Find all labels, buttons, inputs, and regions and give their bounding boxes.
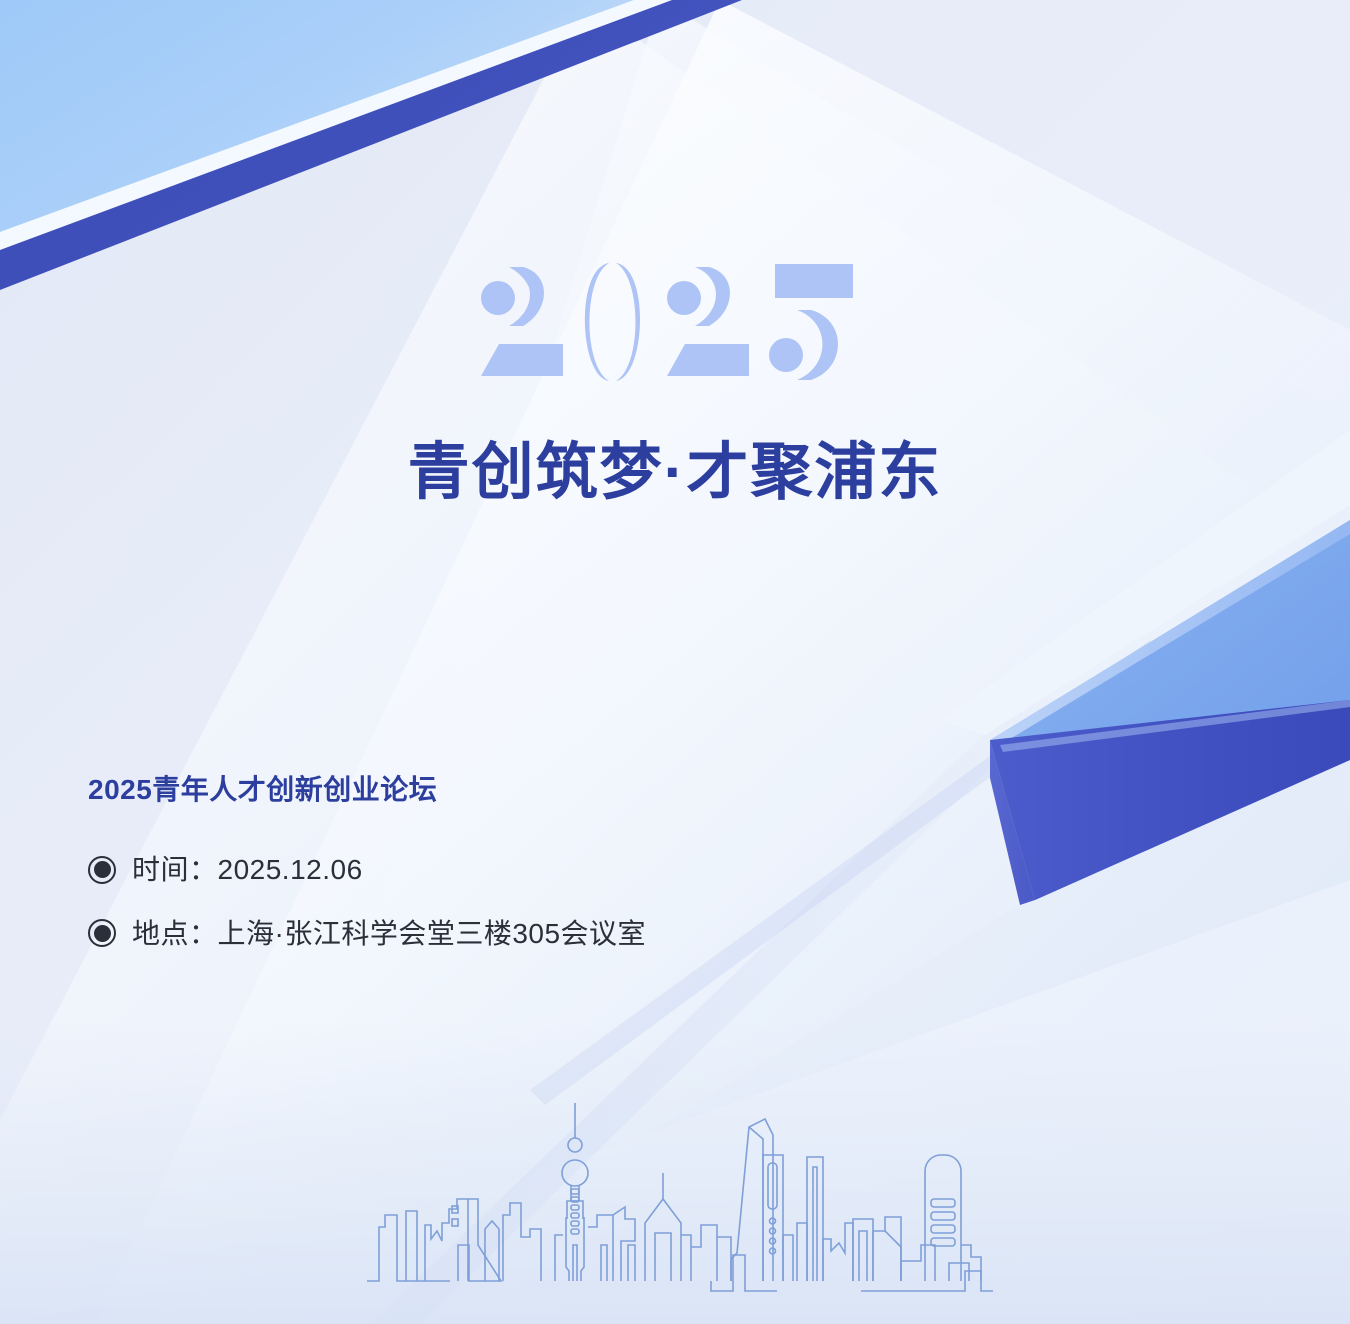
skyline-bldg-23: [901, 1245, 935, 1281]
skyline-window-b: [452, 1219, 458, 1226]
year-numeral-group: [481, 263, 853, 381]
page-title: 青创筑梦·才聚浦东: [0, 437, 1350, 508]
skyline-bldg-7: [503, 1203, 541, 1281]
digit-0-right-leaf: [616, 263, 640, 381]
digit-2a-dot: [481, 281, 515, 315]
digit-5-dot: [769, 338, 803, 372]
skyline-jinmao-inner: [813, 1167, 817, 1281]
digit-2a-base: [481, 344, 563, 376]
meta-row-location: 地点： 上海·张江科学会堂三楼305会议室: [88, 917, 908, 951]
digit-5-top-bar: [775, 264, 853, 298]
blue-3d-slab: [990, 520, 1350, 905]
pearl-tower-small-sphere: [568, 1138, 582, 1152]
pearl-window-5: [571, 1221, 579, 1226]
pearl-window-6: [571, 1229, 579, 1234]
slab-front-face: [990, 700, 1350, 900]
digit-2b-dot: [667, 281, 701, 315]
skyline-bldg-17: [797, 1223, 807, 1281]
bullet-ring-icon: [88, 856, 116, 884]
skyline-bldg-22: [885, 1231, 901, 1281]
forum-name: 2025青年人才创新创业论坛: [88, 772, 908, 807]
skyline-bldg-12: [628, 1245, 635, 1281]
skyline-bldg-1: [367, 1215, 450, 1281]
pearl-tower-right-leg: [581, 1217, 584, 1281]
year-graphic: 2025: [0, 258, 1350, 386]
skyline-bldg-20: [859, 1231, 867, 1281]
digit-5-bowl: [797, 310, 838, 380]
skyline-svg: [345, 1095, 1005, 1310]
skyline-strokes: [367, 1103, 993, 1291]
pearl-window-2: [571, 1197, 579, 1202]
skyline-shanghai-tower: [731, 1119, 773, 1281]
skyline-bldg-8: [555, 1235, 563, 1281]
skyline-bldg-10: [601, 1245, 607, 1281]
skyline-bldg-11: [613, 1207, 635, 1281]
skyline-shanghai-tower-inner: [749, 1127, 763, 1281]
skyline-bldg-19: [853, 1219, 873, 1281]
diagonal-brand-band: [0, 0, 742, 290]
skyline-bldg-21: [873, 1217, 901, 1281]
skyline-bldg-2: [406, 1211, 417, 1281]
skyline-bldg-3: [425, 1199, 468, 1281]
skyline-bldg-14: [691, 1225, 717, 1281]
event-info-block: 2025青年人才创新创业论坛 时间： 2025.12.06 地点： 上海·张江科…: [88, 772, 908, 950]
skyline-bldg-16: [783, 1235, 793, 1281]
skyline-pointed-tower: [645, 1199, 681, 1281]
rounded-tower-band-2: [931, 1212, 955, 1220]
location-label: 地点：: [132, 917, 218, 951]
pearl-tower-big-sphere: [562, 1160, 588, 1186]
location-value: 上海·张江科学会堂三楼305会议室: [218, 917, 647, 951]
pearl-window-1: [571, 1189, 579, 1194]
meta-row-time: 时间： 2025.12.06: [88, 853, 908, 887]
skyline-bldg-6: [485, 1221, 499, 1281]
pearl-window-3: [571, 1205, 579, 1210]
slab-left-face: [990, 740, 1035, 905]
skyline-bldg-25: [949, 1263, 969, 1281]
slab-top-highlight: [990, 520, 1350, 748]
year-2025-shapes: 2025: [475, 258, 875, 386]
rounded-tower-band-1: [931, 1199, 955, 1207]
top-left-blue-panel: [0, 0, 634, 232]
slab-top-face: [990, 520, 1350, 900]
pearl-window-4: [571, 1213, 579, 1218]
slab-crease-line: [1000, 700, 1350, 752]
skyline-jinmao: [807, 1157, 823, 1281]
rounded-tower-band-3: [931, 1225, 955, 1233]
diagonal-white-gap: [0, 0, 690, 252]
digit-2b-base: [667, 344, 749, 376]
skyline-ground-right: [861, 1271, 993, 1291]
skyline-pointed-core: [655, 1233, 671, 1281]
skyline-low-block-center: [711, 1255, 777, 1291]
skyline-bldg-13: [681, 1235, 691, 1281]
shanghai-skyline-outline: [345, 1095, 1005, 1310]
pearl-tower-core: [573, 1245, 577, 1281]
time-label: 时间：: [132, 853, 218, 887]
time-value: 2025.12.06: [218, 853, 363, 887]
skyline-bldg-15: [717, 1237, 731, 1281]
skyline-bldg-18: [823, 1223, 853, 1281]
poster-canvas: 2025: [0, 0, 1350, 1324]
pearl-tower-left-leg: [566, 1217, 569, 1281]
bullet-ring-icon: [88, 919, 116, 947]
